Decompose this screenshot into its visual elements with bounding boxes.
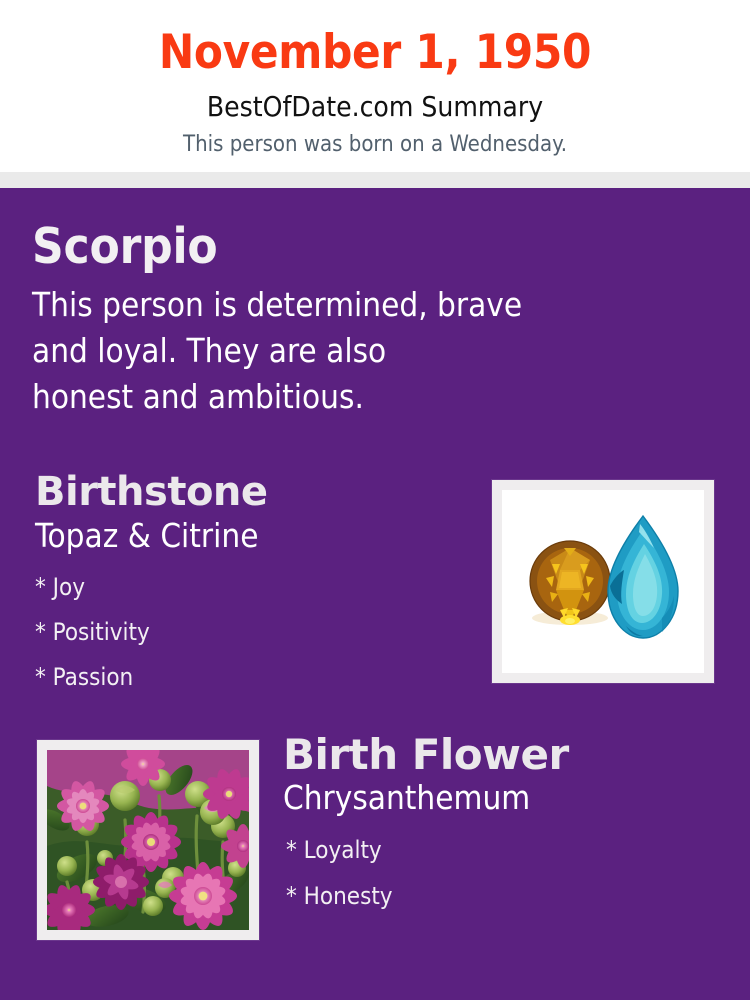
birth-flower-image-inner bbox=[47, 750, 249, 930]
site-subtitle: BestOfDate.com Summary bbox=[207, 93, 543, 121]
birthstone-image bbox=[492, 480, 714, 683]
zodiac-sign-name: Scorpio bbox=[32, 221, 722, 272]
gemstones-icon bbox=[502, 490, 704, 673]
birthstone-heading: Birthstone bbox=[35, 471, 465, 513]
summary-card: November 1, 1950 BestOfDate.com Summary … bbox=[0, 0, 750, 1000]
birthstone-name: Topaz & Citrine bbox=[35, 518, 465, 554]
zodiac-section: Scorpio This person is determined, brave… bbox=[32, 221, 722, 419]
birth-flower-image bbox=[37, 740, 259, 940]
chrysanthemum-flowers-icon bbox=[47, 750, 249, 930]
birth-flower-section: Birth Flower Chrysanthemum * Loyalty * H… bbox=[283, 733, 723, 908]
birthstone-image-inner bbox=[502, 490, 704, 673]
birth-weekday-text: This person was born on a Wednesday. bbox=[183, 134, 567, 156]
page-title: November 1, 1950 bbox=[159, 29, 591, 76]
main-panel: Scorpio This person is determined, brave… bbox=[0, 188, 750, 1000]
birth-flower-trait: * Loyalty bbox=[286, 838, 723, 862]
birthstone-trait: * Passion bbox=[35, 665, 465, 689]
birth-flower-trait: * Honesty bbox=[286, 884, 723, 908]
birthstone-trait: * Positivity bbox=[35, 620, 465, 644]
birth-flower-heading: Birth Flower bbox=[283, 733, 723, 777]
header: November 1, 1950 BestOfDate.com Summary … bbox=[0, 0, 750, 172]
zodiac-description: This person is determined, brave and loy… bbox=[32, 282, 704, 419]
birth-flower-name: Chrysanthemum bbox=[283, 780, 723, 816]
header-separator bbox=[0, 172, 750, 188]
birthstone-trait: * Joy bbox=[35, 575, 465, 599]
birthstone-section: Birthstone Topaz & Citrine * Joy * Posit… bbox=[35, 471, 465, 689]
